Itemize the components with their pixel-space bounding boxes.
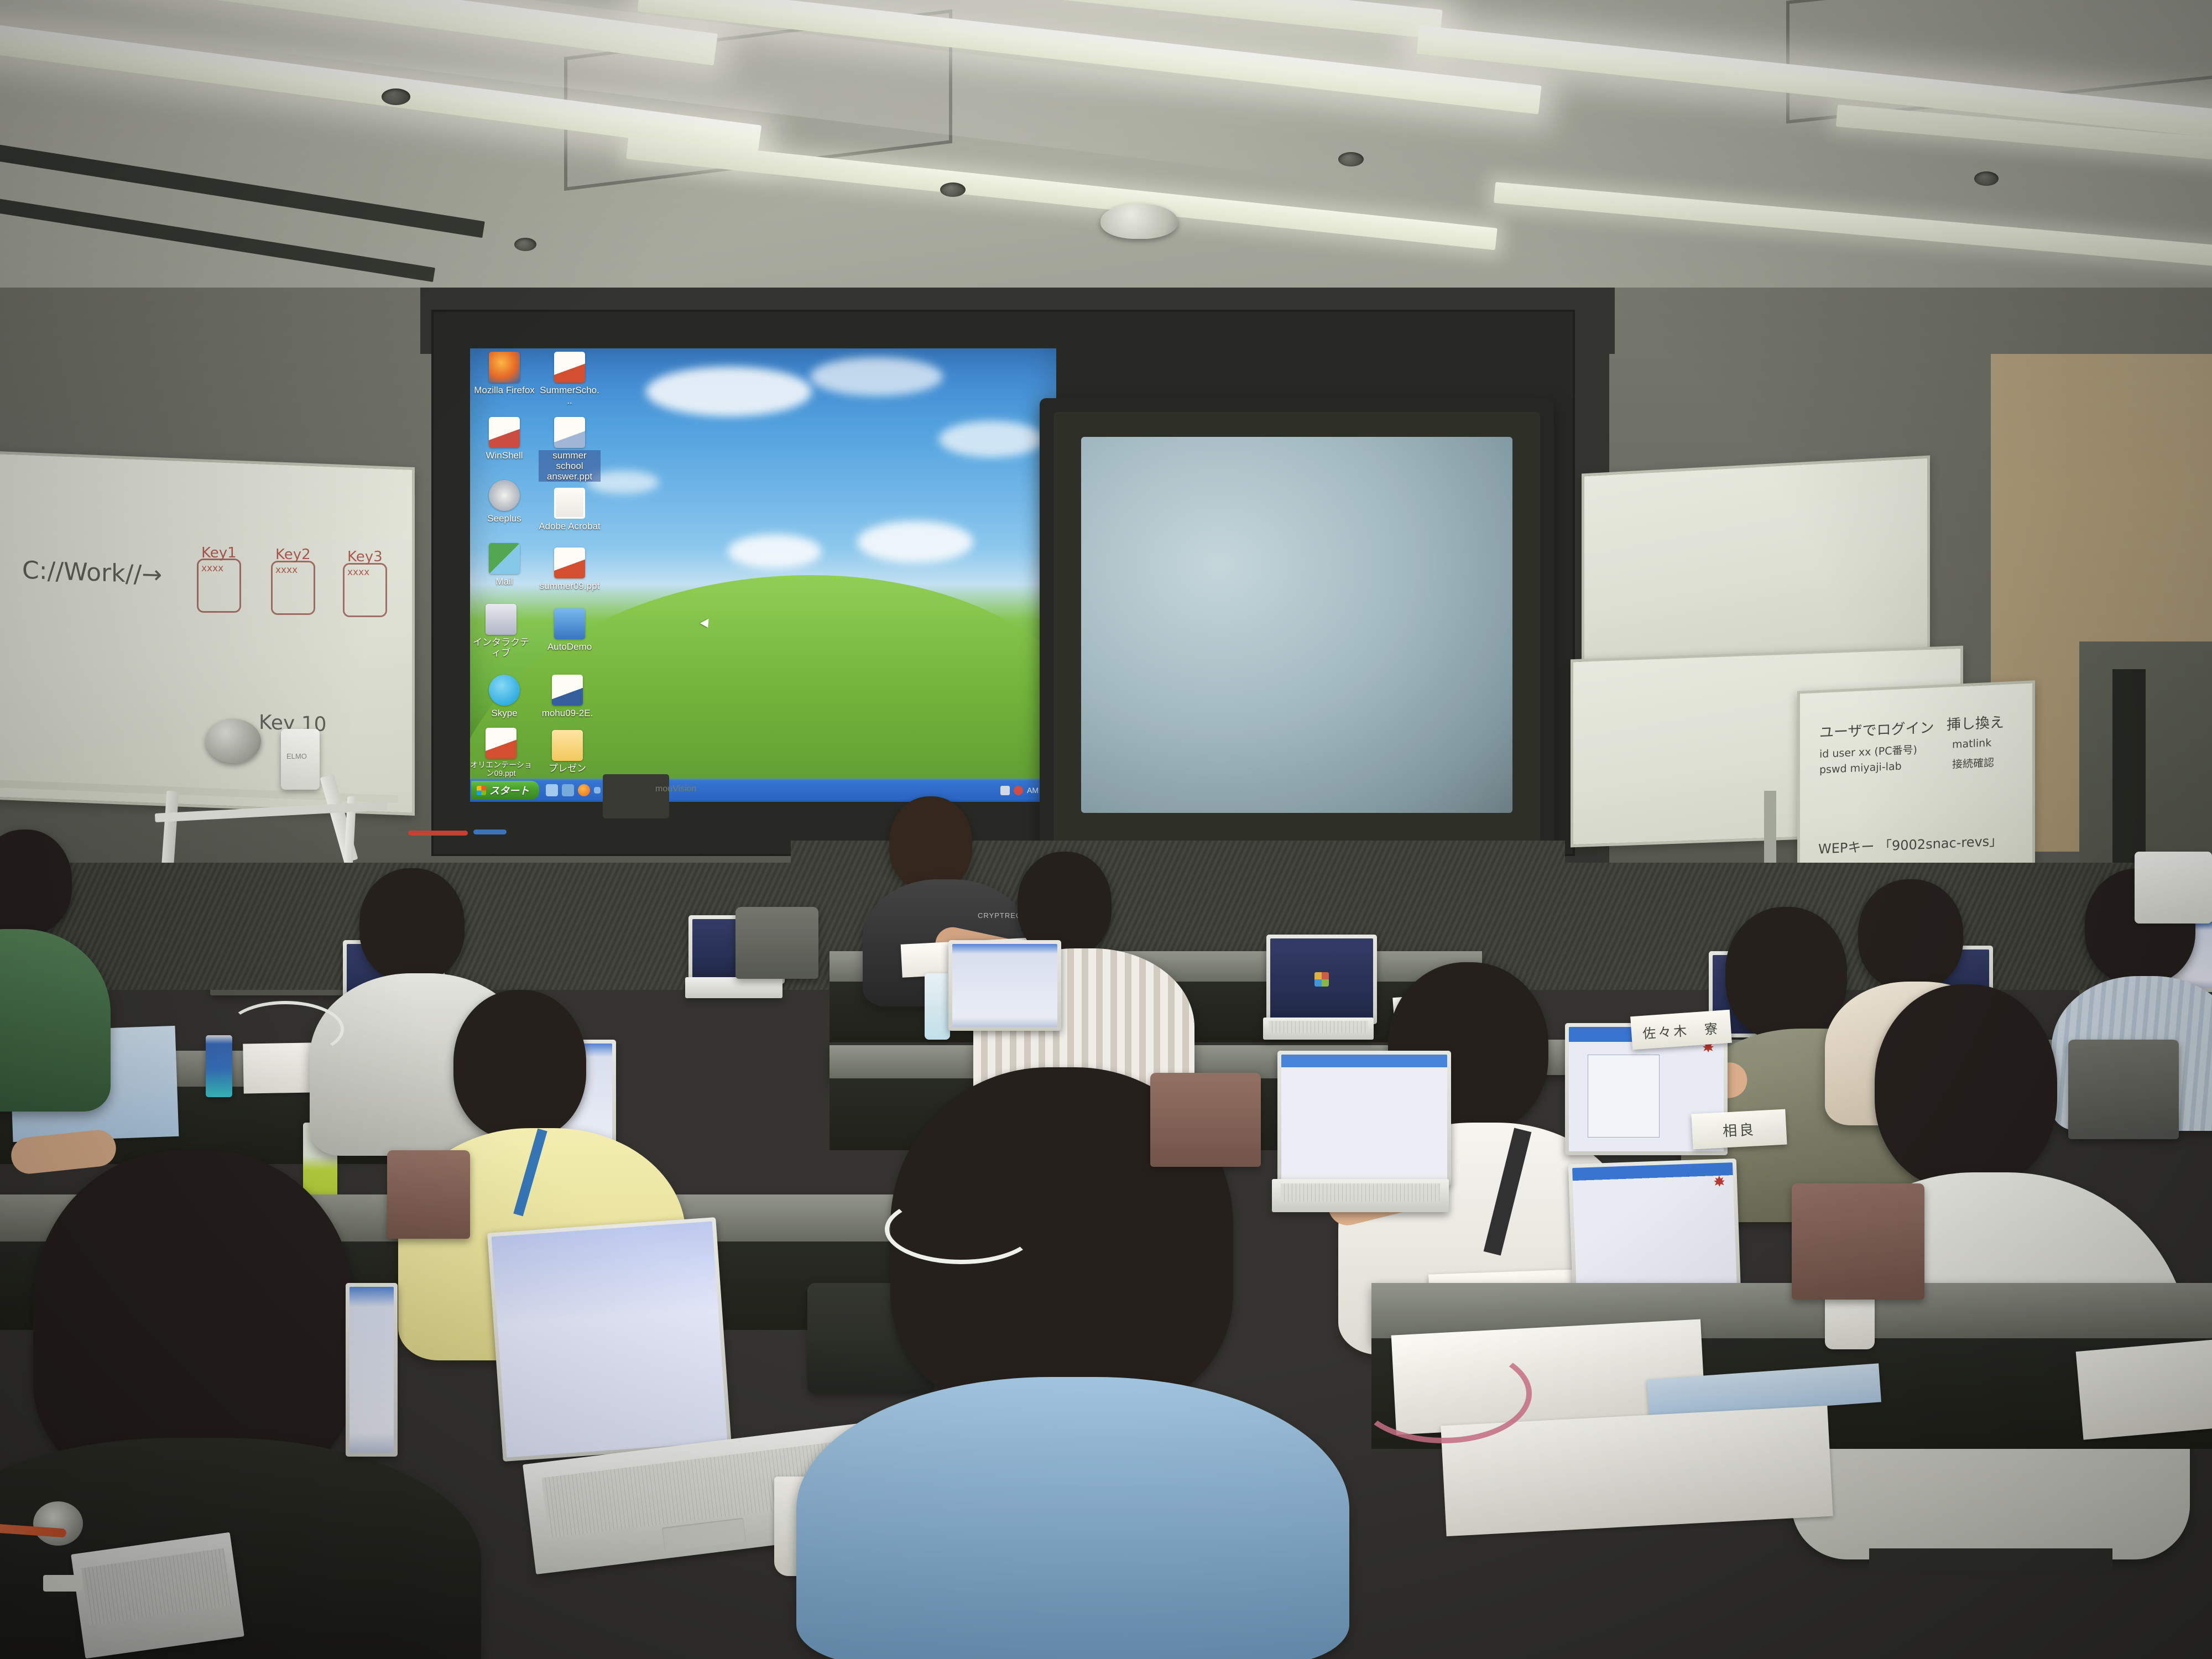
desktop-icon-summer09[interactable]: summer09.ppt bbox=[539, 547, 601, 591]
wristwatch bbox=[33, 1501, 83, 1546]
key-label-3: Key3 bbox=[347, 549, 383, 565]
desktop-icon-mohu09[interactable]: mohu09-2E. bbox=[536, 675, 598, 718]
acrobat-icon bbox=[554, 488, 585, 519]
firefox-icon bbox=[489, 352, 520, 383]
water-bottle[interactable] bbox=[925, 973, 950, 1040]
student-head bbox=[453, 990, 586, 1139]
laptop-base[interactable] bbox=[685, 977, 782, 998]
shirt-logo: CRYPTREC bbox=[978, 911, 1021, 920]
key-sub-2: xxxx bbox=[275, 565, 298, 576]
laptop-screen[interactable] bbox=[952, 944, 1057, 1027]
key-sub-1: xxxx bbox=[201, 563, 223, 574]
student-head bbox=[1725, 907, 1847, 1040]
powerpoint-file-icon bbox=[554, 417, 585, 448]
projected-windows-xp-desktop[interactable]: Mozilla Firefox WinShell Seeplus Mail イン… bbox=[470, 348, 1056, 802]
power-cable bbox=[885, 1194, 1037, 1264]
window-panel[interactable] bbox=[1588, 1055, 1660, 1138]
chart-app-icon bbox=[486, 604, 517, 635]
desktop-icon-mail[interactable]: Mail bbox=[473, 543, 535, 587]
chair-row4[interactable] bbox=[387, 1150, 470, 1239]
desktop-icon-interactive[interactable]: インタラクティブ bbox=[470, 604, 532, 658]
red-marker[interactable] bbox=[408, 831, 468, 836]
laptop-lid bbox=[487, 1217, 732, 1462]
whiteboard-left[interactable] bbox=[0, 451, 415, 816]
laptop-screen[interactable] bbox=[492, 1222, 728, 1458]
windows-flag-icon bbox=[477, 786, 486, 795]
skype-icon bbox=[489, 675, 520, 706]
desktop-icon-acrobat[interactable]: Adobe Acrobat bbox=[539, 488, 601, 531]
volume-icon[interactable] bbox=[1014, 786, 1023, 795]
soda-can[interactable] bbox=[206, 1035, 232, 1097]
powerpoint-file-icon bbox=[486, 728, 517, 759]
laptop-base[interactable] bbox=[1263, 1018, 1374, 1040]
desktop-icon-presen-folder[interactable]: プレゼン bbox=[536, 730, 598, 774]
xp-taskbar[interactable]: スタート AM bbox=[470, 779, 1056, 802]
recessed-downlight-icon bbox=[382, 88, 410, 105]
whiteboard-left-line1: C://Work//→ bbox=[22, 556, 162, 589]
chair-mid[interactable] bbox=[1150, 1073, 1261, 1167]
desktop-icon-skype[interactable]: Skype bbox=[473, 675, 535, 718]
key-label-2: Key2 bbox=[275, 546, 311, 563]
student-torso bbox=[796, 1377, 1349, 1659]
recessed-downlight-icon bbox=[940, 182, 966, 197]
chair-front[interactable] bbox=[735, 907, 818, 979]
media-player-icon[interactable] bbox=[562, 784, 574, 796]
laptop-screen[interactable] bbox=[1270, 938, 1373, 1020]
laptop-screen[interactable] bbox=[1572, 1162, 1737, 1295]
chair-right-b[interactable] bbox=[2068, 1040, 2179, 1139]
power-cable-2 bbox=[227, 1001, 344, 1057]
elmo-brand-label: ELMO bbox=[286, 752, 307, 760]
whiteboard-right-note-line2: 接続確認 bbox=[1952, 754, 1994, 771]
laptop-keyboard[interactable] bbox=[1281, 1183, 1440, 1202]
whiteboard-right-note-line1: matlink bbox=[1952, 737, 1991, 750]
windows-logo-icon bbox=[1314, 972, 1329, 987]
laptop-lid bbox=[1568, 1159, 1741, 1299]
laptop-lid bbox=[1266, 935, 1377, 1024]
classroom-photo: Mozilla Firefox WinShell Seeplus Mail イン… bbox=[0, 0, 2212, 1659]
laptop-screen[interactable] bbox=[1281, 1055, 1447, 1182]
power-cable-3 bbox=[1355, 1344, 1532, 1443]
mail-icon bbox=[489, 543, 520, 574]
document-camera-head bbox=[206, 719, 261, 763]
laptop-keyboard[interactable] bbox=[1269, 1021, 1368, 1033]
laptop-base[interactable] bbox=[1272, 1179, 1449, 1212]
student-head bbox=[359, 868, 465, 982]
belt bbox=[1869, 1548, 2112, 1571]
powerpoint-file-icon bbox=[554, 352, 585, 383]
app-icon bbox=[489, 480, 520, 511]
display-screen[interactable] bbox=[1081, 437, 1512, 813]
student-head bbox=[1858, 879, 1963, 990]
student-head bbox=[33, 1150, 354, 1482]
projector-device bbox=[603, 774, 669, 818]
desktop-icon-seeplus[interactable]: Seeplus bbox=[473, 480, 535, 524]
quick-launch-bar[interactable] bbox=[546, 784, 601, 796]
laptop-screen[interactable] bbox=[349, 1287, 394, 1453]
desktop-icon-autodemo[interactable]: AutoDemo bbox=[539, 608, 601, 652]
ie-icon[interactable] bbox=[594, 787, 601, 794]
laptop-lid bbox=[346, 1283, 398, 1457]
name-placard-sasaki: 佐々木 寮 bbox=[1630, 1010, 1732, 1050]
desktop-icon-summer-school-answer[interactable]: summer school answer.ppt bbox=[539, 417, 601, 482]
desktop-icon-orientation[interactable]: オリエンテーション09.ppt bbox=[470, 728, 532, 778]
student-head bbox=[1875, 984, 2057, 1189]
network-icon[interactable] bbox=[1000, 786, 1010, 795]
desktop-icon-summerscho[interactable]: SummerScho... bbox=[539, 352, 601, 406]
word-file-icon bbox=[552, 675, 583, 706]
keyboard-keys[interactable] bbox=[81, 1548, 232, 1625]
device-brand-label: mouVision bbox=[655, 784, 696, 794]
instructor-head bbox=[889, 796, 972, 890]
ceiling-speaker-icon bbox=[1100, 204, 1178, 239]
start-button[interactable]: スタート bbox=[471, 781, 539, 800]
blue-marker[interactable] bbox=[473, 830, 507, 834]
show-desktop-icon[interactable] bbox=[546, 784, 558, 796]
laptop-lid bbox=[1277, 1051, 1451, 1186]
folder-icon bbox=[552, 730, 583, 761]
maple-leaf-icon bbox=[1714, 1176, 1725, 1187]
whiteboard-right-note-title: 挿し換え bbox=[1947, 711, 2004, 734]
video-player-icon bbox=[554, 608, 585, 639]
eraser[interactable] bbox=[43, 1575, 82, 1592]
key-label-1: Key1 bbox=[201, 545, 237, 561]
laptop-lid bbox=[948, 940, 1061, 1031]
desktop-icon-firefox[interactable]: Mozilla Firefox bbox=[473, 352, 535, 395]
firefox-icon[interactable] bbox=[578, 784, 590, 796]
key-sub-3: xxxx bbox=[347, 567, 369, 578]
handout-far-right[interactable] bbox=[2076, 1336, 2212, 1439]
name-placard-sagara: 相良 bbox=[1691, 1109, 1787, 1150]
winshell-icon bbox=[489, 417, 520, 448]
powerpoint-file-icon bbox=[554, 547, 585, 578]
recessed-downlight-icon bbox=[1338, 152, 1364, 166]
keyboard-foreground[interactable] bbox=[71, 1532, 244, 1659]
recessed-downlight-icon bbox=[1974, 171, 1999, 186]
printer-device[interactable] bbox=[2135, 852, 2212, 924]
recessed-downlight-icon bbox=[514, 238, 536, 251]
whiteboard-center-right[interactable] bbox=[1582, 455, 1930, 678]
chair-right-a[interactable] bbox=[1792, 1183, 1924, 1300]
desktop-icon-winshell[interactable]: WinShell bbox=[473, 417, 535, 461]
